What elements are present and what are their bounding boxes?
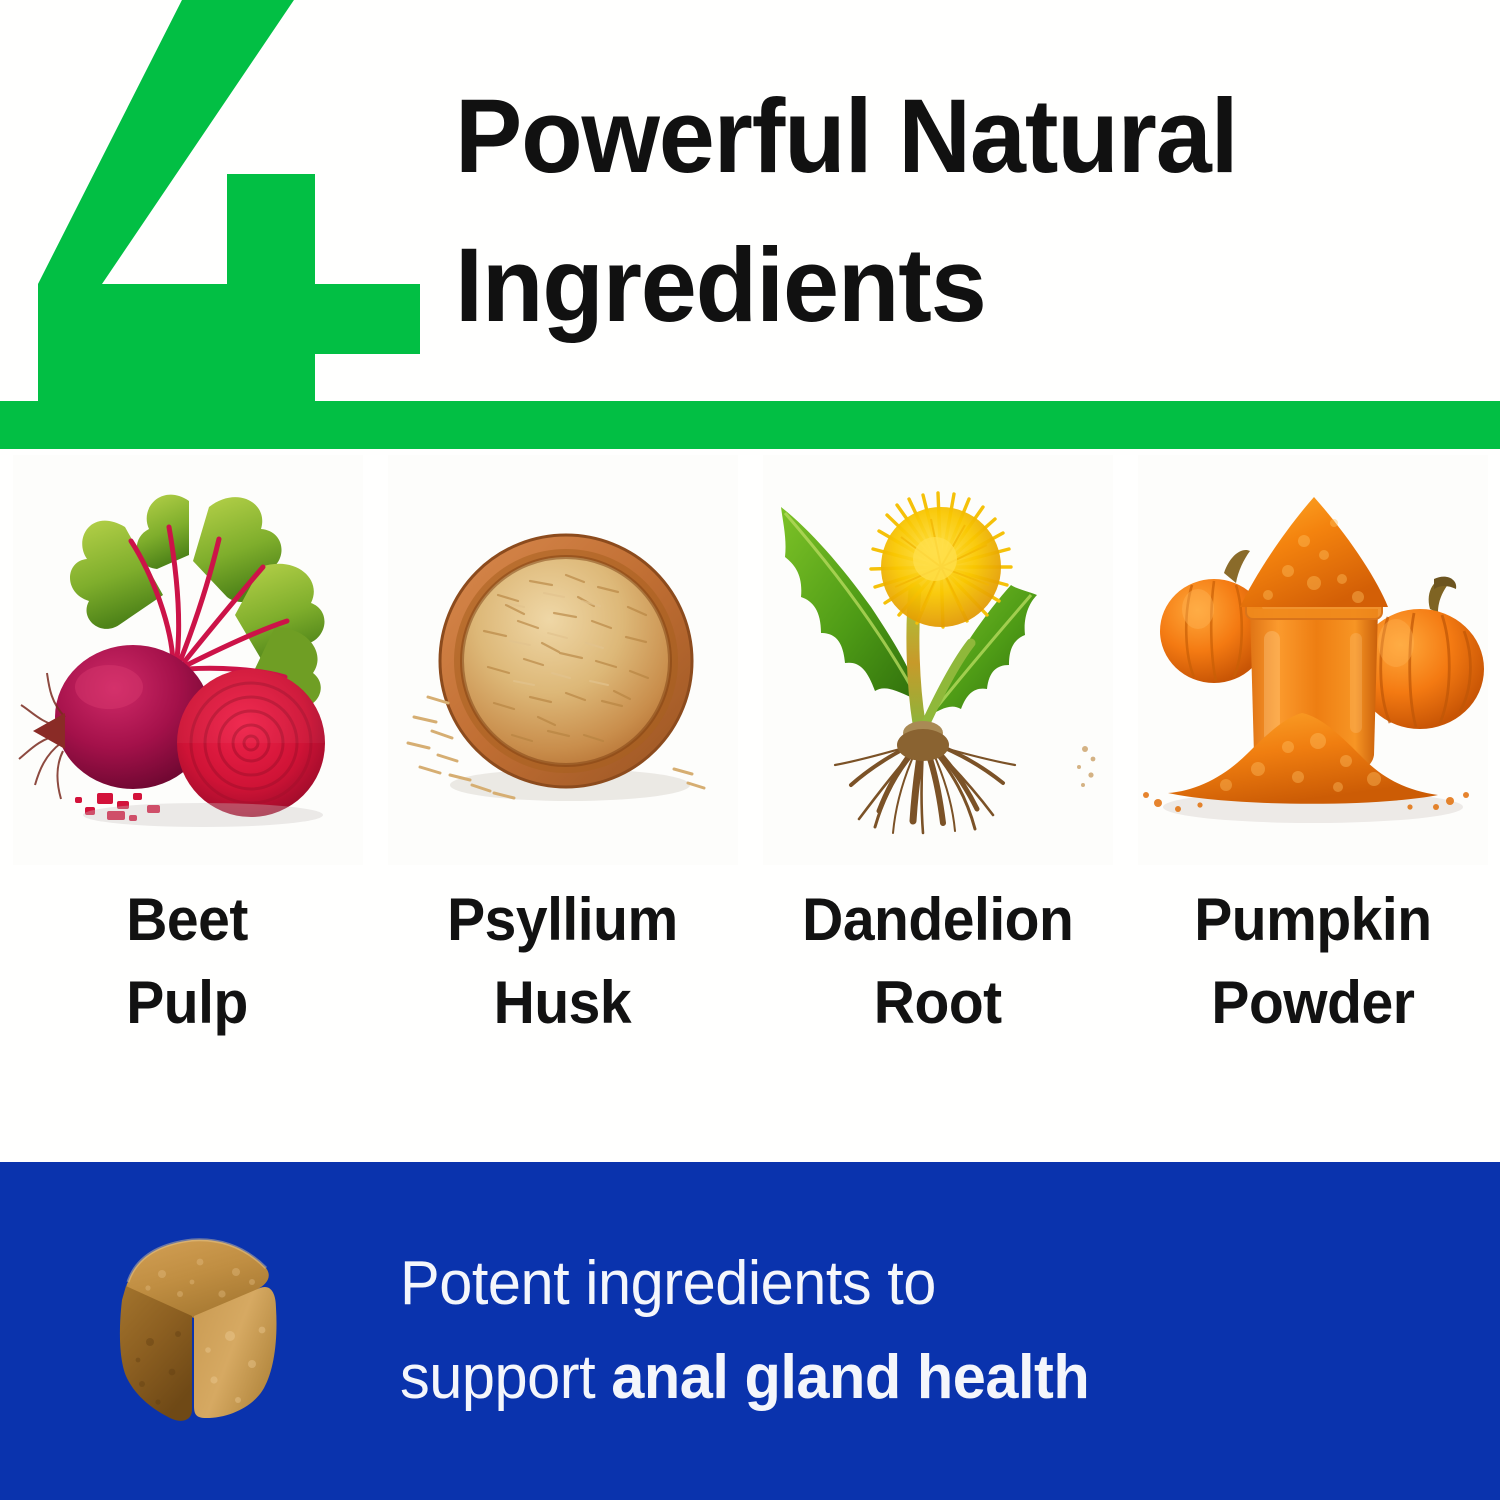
- ingredient-label-beet-pulp: Beet Pulp: [127, 879, 249, 1045]
- label-line-1: Dandelion: [802, 879, 1073, 962]
- ingredient-label-dandelion-root: Dandelion Root: [802, 879, 1073, 1045]
- label-line-2: Root: [802, 962, 1073, 1045]
- footer-line-2-normal: support: [400, 1343, 611, 1412]
- ingredient-infographic: Powerful Natural Ingredients: [0, 0, 1500, 1500]
- label-line-1: Psyllium: [447, 879, 678, 962]
- ingredients-row: Beet Pulp: [0, 455, 1500, 1155]
- label-line-2: Powder: [1194, 962, 1431, 1045]
- header-section: Powerful Natural Ingredients: [0, 0, 1500, 450]
- label-line-1: Pumpkin: [1194, 879, 1431, 962]
- beet-half: [177, 669, 325, 817]
- title-line-1: Powerful Natural: [455, 62, 1425, 211]
- label-line-1: Beet: [127, 879, 249, 962]
- footer-tagline: Potent ingredients to support anal gland…: [400, 1237, 1456, 1425]
- powder-mound: [1240, 497, 1388, 607]
- pumpkin-powder-image: [1138, 455, 1488, 865]
- dandelion-flower: [871, 493, 1011, 627]
- ingredient-item-psyllium-husk: Psyllium Husk: [375, 455, 750, 1155]
- ingredient-item-beet-pulp: Beet Pulp: [0, 455, 375, 1155]
- green-divider-bar: [0, 401, 1500, 449]
- psyllium-husk-image: [388, 455, 738, 865]
- numeral-four-graphic: [30, 0, 420, 414]
- ingredient-item-pumpkin-powder: Pumpkin Powder: [1125, 455, 1500, 1155]
- label-line-2: Husk: [447, 962, 678, 1045]
- footer-banner: Potent ingredients to support anal gland…: [0, 1162, 1500, 1500]
- footer-line-2-bold: anal gland health: [611, 1343, 1089, 1412]
- beet-pulp-image: [13, 455, 363, 865]
- dandelion-root-image: [763, 455, 1113, 865]
- ingredient-label-pumpkin-powder: Pumpkin Powder: [1194, 879, 1431, 1045]
- footer-line-2: support anal gland health: [400, 1331, 1418, 1425]
- soft-chew-cube: [0, 1162, 400, 1500]
- page-title: Powerful Natural Ingredients: [455, 62, 1425, 360]
- footer-line-1: Potent ingredients to: [400, 1237, 1418, 1331]
- title-line-2: Ingredients: [455, 211, 1425, 360]
- powder-pile: [1168, 713, 1438, 804]
- label-line-2: Pulp: [127, 962, 249, 1045]
- ingredient-item-dandelion-root: Dandelion Root: [750, 455, 1125, 1155]
- ingredient-label-psyllium-husk: Psyllium Husk: [447, 879, 678, 1045]
